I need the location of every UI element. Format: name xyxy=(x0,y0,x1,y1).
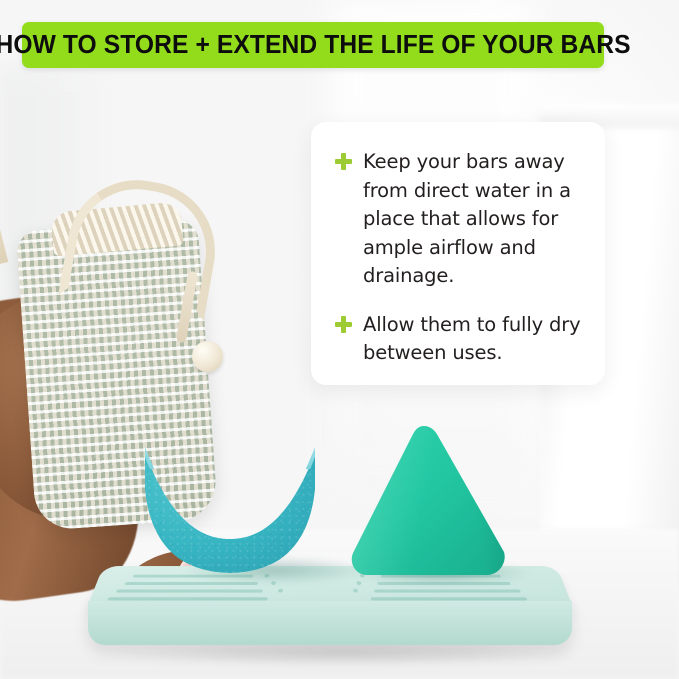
tray-front-edge xyxy=(88,601,572,645)
list-item: Allow them to fully dry between uses. xyxy=(335,311,589,368)
tip-text: Allow them to fully dry between uses. xyxy=(363,311,589,368)
triangle-soap-shade xyxy=(348,424,508,576)
hand-holding-bag xyxy=(0,85,290,505)
crescent-soap-bar xyxy=(141,443,319,573)
drawstring-loop xyxy=(58,169,226,321)
product-infographic: HOW TO STORE + EXTEND THE LIFE OF YOUR B… xyxy=(0,0,679,679)
list-item: Keep your bars away from direct water in… xyxy=(335,148,589,291)
header-banner-title: HOW TO STORE + EXTEND THE LIFE OF YOUR B… xyxy=(0,31,631,60)
tips-bullet-list: Keep your bars away from direct water in… xyxy=(335,148,589,368)
tips-card: Keep your bars away from direct water in… xyxy=(311,122,605,385)
tip-text: Keep your bars away from direct water in… xyxy=(363,148,589,291)
triangle-soap-bar xyxy=(348,424,508,576)
plus-icon xyxy=(335,316,352,333)
drawstring-bead xyxy=(192,341,223,372)
crescent-soap-texture xyxy=(141,443,319,573)
header-banner: HOW TO STORE + EXTEND THE LIFE OF YOUR B… xyxy=(22,22,604,68)
brand-tag xyxy=(0,207,8,270)
plus-icon xyxy=(335,153,352,170)
crescent-soap-top-edge xyxy=(141,443,319,469)
